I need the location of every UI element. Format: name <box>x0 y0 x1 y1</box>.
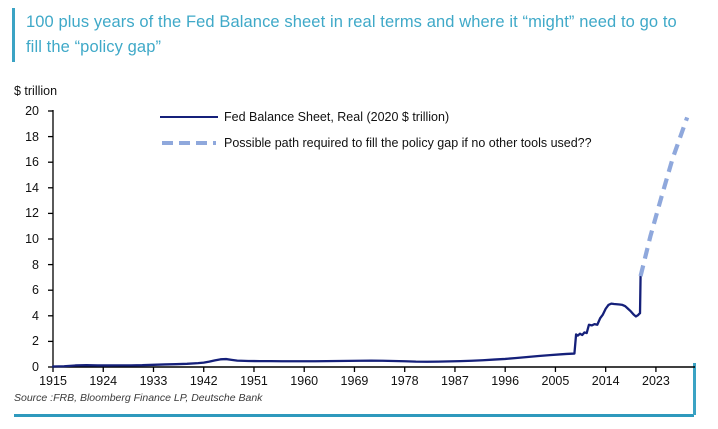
chart-figure: 100 plus years of the Fed Balance sheet … <box>0 0 718 429</box>
legend-dashed-line-icon <box>160 136 218 150</box>
series-line-projection <box>641 117 688 276</box>
y-tick-label: 14 <box>5 181 39 195</box>
legend-solid-line-icon <box>160 110 218 124</box>
y-tick-label: 20 <box>5 104 39 118</box>
x-tick-label: 1915 <box>39 374 67 388</box>
source-note: Source :FRB, Bloomberg Finance LP, Deuts… <box>14 392 262 404</box>
legend-item-projection: Possible path required to fill the polic… <box>160 130 592 156</box>
x-tick-label: 1924 <box>89 374 117 388</box>
y-tick-label: 16 <box>5 155 39 169</box>
plot-area <box>0 0 718 429</box>
y-tick-label: 4 <box>5 309 39 323</box>
y-tick-label: 10 <box>5 232 39 246</box>
x-tick-label: 2023 <box>642 374 670 388</box>
y-tick-label: 6 <box>5 283 39 297</box>
x-tick-label: 1933 <box>140 374 168 388</box>
x-tick-label: 1978 <box>391 374 419 388</box>
x-tick-label: 1951 <box>240 374 268 388</box>
y-tick-label: 8 <box>5 258 39 272</box>
x-tick-label: 2014 <box>592 374 620 388</box>
chart-legend: Fed Balance Sheet, Real (2020 $ trillion… <box>160 104 592 156</box>
x-tick-label: 2005 <box>542 374 570 388</box>
x-tick-label: 1960 <box>290 374 318 388</box>
legend-item-actual: Fed Balance Sheet, Real (2020 $ trillion… <box>160 104 592 130</box>
x-tick-label: 1942 <box>190 374 218 388</box>
y-tick-label: 18 <box>5 130 39 144</box>
x-tick-label: 1969 <box>341 374 369 388</box>
y-tick-label: 2 <box>5 334 39 348</box>
x-tick-label: 1996 <box>491 374 519 388</box>
x-tick-label: 1987 <box>441 374 469 388</box>
series-line-actual <box>53 276 641 366</box>
legend-label-actual: Fed Balance Sheet, Real (2020 $ trillion… <box>218 110 449 124</box>
legend-label-projection: Possible path required to fill the polic… <box>218 136 592 150</box>
y-tick-label: 0 <box>5 360 39 374</box>
y-tick-label: 12 <box>5 206 39 220</box>
